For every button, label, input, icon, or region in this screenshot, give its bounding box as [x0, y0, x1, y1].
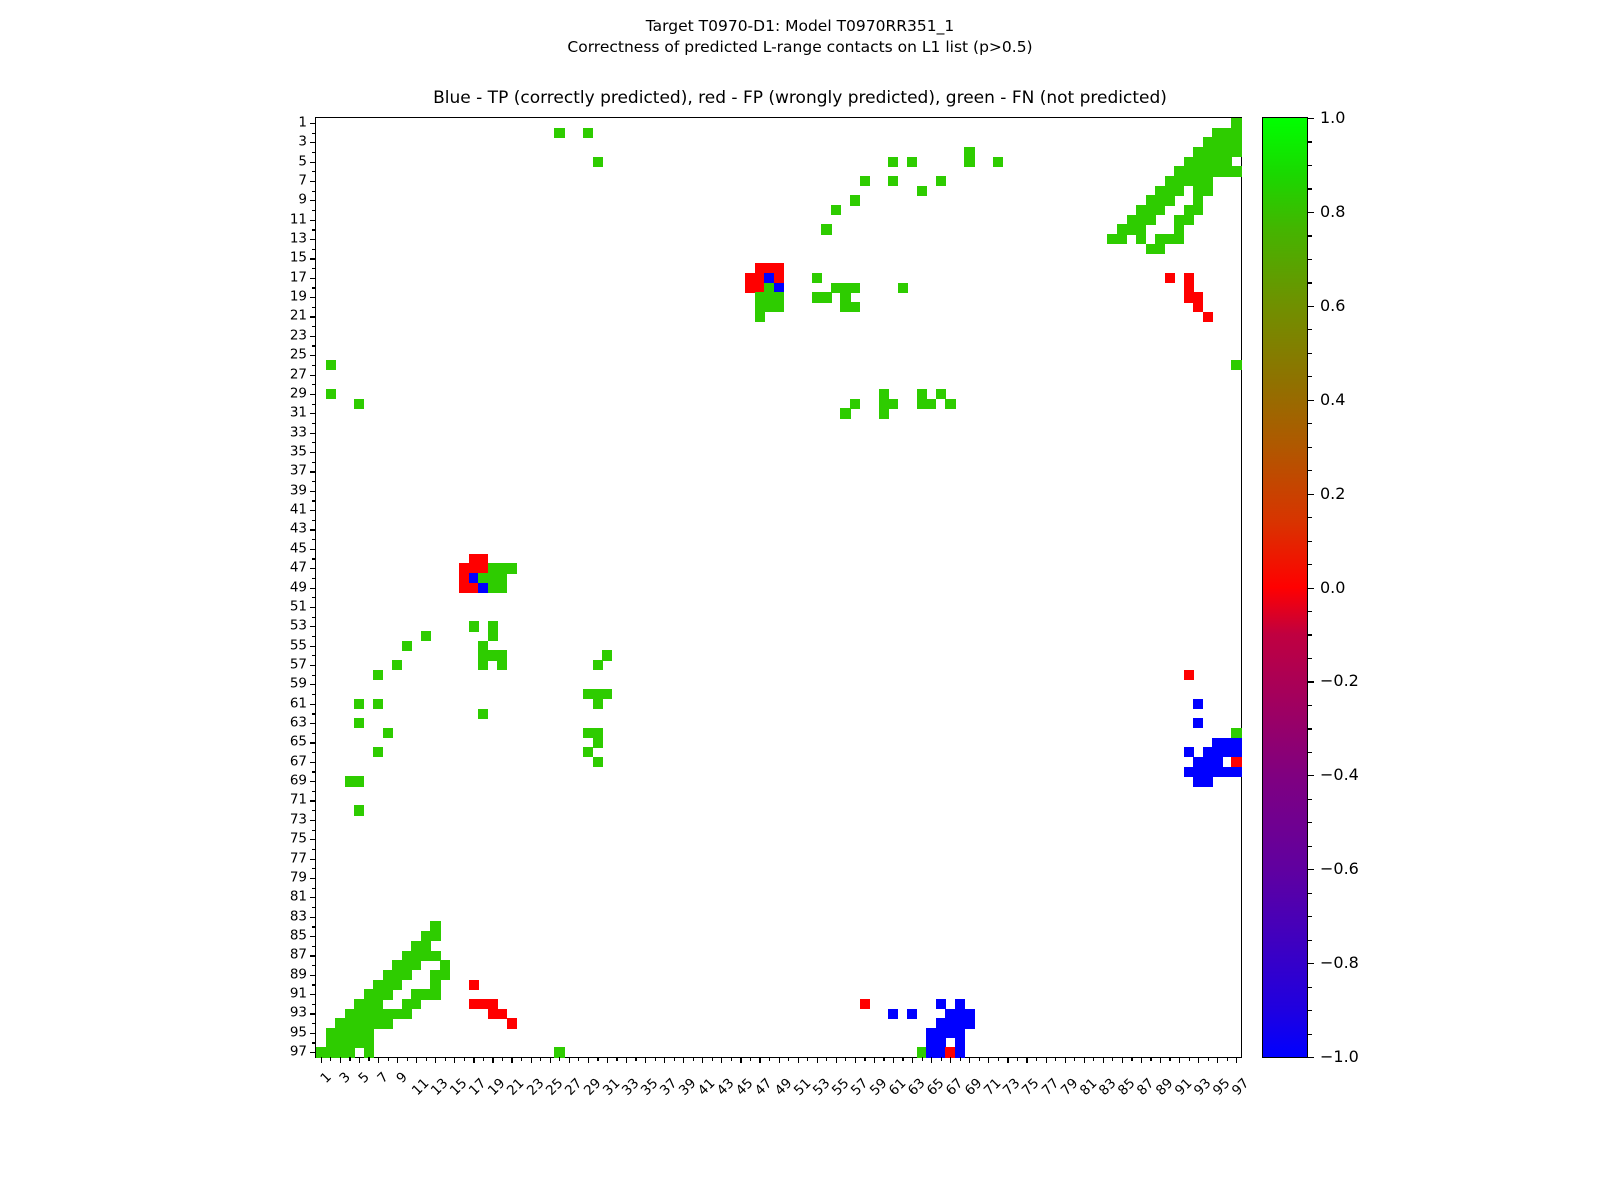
x-axis-tick [750, 1057, 751, 1061]
y-axis-tick [310, 239, 316, 240]
y-axis-tick [310, 781, 316, 782]
legend-text: Blue - TP (correctly predicted), red - F… [0, 88, 1600, 108]
x-axis-tick [559, 1057, 560, 1061]
colorbar-label: −0.4 [1320, 767, 1359, 783]
x-axis-tick [1103, 1057, 1104, 1063]
y-axis-label: 65 [290, 736, 307, 750]
colorbar-tick [1307, 235, 1312, 236]
heatmap-cell [354, 718, 364, 728]
heatmap-cell [602, 650, 612, 660]
y-axis-tick [312, 597, 316, 598]
x-axis-tick [1017, 1057, 1018, 1061]
y-axis-label: 33 [290, 426, 307, 440]
y-axis-label: 1 [298, 116, 307, 130]
heatmap-cell [907, 1009, 917, 1019]
heatmap-cell [850, 283, 860, 293]
colorbar-label: 0.6 [1320, 298, 1345, 314]
y-axis-tick [310, 704, 316, 705]
colorbar-tick [1307, 329, 1312, 330]
x-axis-tick [769, 1057, 770, 1061]
y-axis-tick [312, 733, 316, 734]
title-line-1: Target T0970-D1: Model T0970RR351_1 [0, 16, 1600, 37]
x-axis-tick [578, 1057, 579, 1061]
heatmap-cell [1193, 699, 1203, 709]
y-axis-tick [312, 713, 316, 714]
y-axis-tick [310, 220, 316, 221]
y-axis-label: 11 [290, 213, 307, 227]
y-axis-label: 15 [290, 252, 307, 266]
x-axis-tick [836, 1057, 837, 1063]
y-axis-tick [312, 191, 316, 192]
heatmap-cell [326, 389, 336, 399]
colorbar-tick [1307, 306, 1314, 307]
x-axis-tick [693, 1057, 694, 1061]
x-axis-tick [1150, 1057, 1151, 1061]
y-axis-tick [312, 384, 316, 385]
colorbar-tick [1307, 634, 1312, 635]
y-axis-tick [312, 578, 316, 579]
y-axis-tick [310, 162, 316, 163]
x-axis-tick [798, 1057, 799, 1063]
y-axis-label: 9 [298, 194, 307, 208]
x-axis-tick [426, 1057, 427, 1061]
heatmap-cell [554, 128, 564, 138]
y-axis-tick [310, 646, 316, 647]
figure-title: Target T0970-D1: Model T0970RR351_1 Corr… [0, 16, 1600, 58]
y-axis-tick [310, 975, 316, 976]
heatmap-cell [1231, 147, 1241, 157]
heatmap-cell [888, 1009, 898, 1019]
heatmap-cell [478, 709, 488, 719]
x-axis-tick [483, 1057, 484, 1061]
x-axis-tick [674, 1057, 675, 1061]
x-axis-tick [588, 1057, 589, 1063]
y-axis-tick [310, 839, 316, 840]
y-axis-tick [312, 462, 316, 463]
y-axis-tick [310, 471, 316, 472]
x-axis-tick [1065, 1057, 1066, 1063]
x-axis-tick [1055, 1057, 1056, 1061]
heatmap-cell [373, 670, 383, 680]
x-axis-tick [540, 1057, 541, 1061]
x-axis-tick [874, 1057, 875, 1063]
y-axis-tick [312, 1042, 316, 1043]
heatmap-cell [593, 757, 603, 767]
heatmap-cell [1193, 176, 1203, 186]
y-axis-label: 93 [290, 1007, 307, 1021]
heatmap-cell [411, 999, 421, 1009]
colorbar-label: 0.0 [1320, 580, 1345, 596]
heatmap-cell [1184, 747, 1194, 757]
heatmap-cell [469, 621, 479, 631]
heatmap-cell [354, 776, 364, 786]
heatmap-cell [917, 186, 927, 196]
heatmap-cell [345, 776, 355, 786]
colorbar-tick [1307, 470, 1312, 471]
y-axis-tick [310, 1052, 316, 1053]
y-axis-tick [310, 375, 316, 376]
heatmap-cell [898, 283, 908, 293]
x-axis-tick [855, 1057, 856, 1063]
heatmap-cell [383, 989, 393, 999]
contact-map-plot-area: 1133557799111113131515171719192121232325… [315, 117, 1242, 1058]
x-axis-tick [807, 1057, 808, 1061]
y-axis-label: 21 [290, 310, 307, 324]
heatmap-cell [755, 312, 765, 322]
heatmap-cell [1174, 234, 1184, 244]
y-axis-tick [310, 433, 316, 434]
heatmap-cell [1203, 776, 1213, 786]
heatmap-cell [936, 176, 946, 186]
x-axis-tick [531, 1057, 532, 1063]
colorbar-tick [1307, 400, 1314, 401]
y-axis-label: 77 [290, 852, 307, 866]
x-axis-tick [1074, 1057, 1075, 1061]
colorbar-tick [1307, 775, 1314, 776]
x-axis-tick [1141, 1057, 1142, 1063]
heatmap-cell [507, 563, 517, 573]
heatmap-cell [583, 128, 593, 138]
x-axis-tick [368, 1057, 369, 1061]
x-axis-tick [597, 1057, 598, 1061]
heatmap-cell [602, 689, 612, 699]
y-axis-label: 95 [290, 1026, 307, 1040]
y-axis-label: 13 [290, 232, 307, 246]
y-axis-tick [310, 355, 316, 356]
y-axis-tick [312, 307, 316, 308]
y-axis-label: 23 [290, 329, 307, 343]
heatmap-cell [440, 970, 450, 980]
y-axis-label: 91 [290, 987, 307, 1001]
heatmap-cell [373, 1009, 383, 1019]
y-axis-tick [310, 742, 316, 743]
y-axis-tick [312, 984, 316, 985]
y-axis-tick [312, 210, 316, 211]
x-axis-tick [912, 1057, 913, 1063]
y-axis-tick [310, 626, 316, 627]
y-axis-tick [310, 684, 316, 685]
x-axis-tick [845, 1057, 846, 1061]
y-axis-tick [312, 404, 316, 405]
y-axis-label: 35 [290, 445, 307, 459]
heatmap-cell [860, 999, 870, 1009]
y-axis-tick [312, 481, 316, 482]
y-axis-tick [310, 491, 316, 492]
y-axis-tick [310, 762, 316, 763]
y-axis-tick [310, 297, 316, 298]
y-axis-tick [312, 326, 316, 327]
colorbar-tick [1307, 987, 1312, 988]
x-axis-tick [492, 1057, 493, 1063]
x-axis-tick [521, 1057, 522, 1061]
colorbar-label: −0.6 [1320, 861, 1359, 877]
colorbar-tick [1307, 353, 1312, 354]
heatmap-cell [945, 399, 955, 409]
y-axis-tick [312, 791, 316, 792]
heatmap-cell [926, 399, 936, 409]
colorbar-tick [1307, 869, 1314, 870]
colorbar-tick [1307, 423, 1312, 424]
y-axis-label: 67 [290, 755, 307, 769]
y-axis-tick [312, 558, 316, 559]
colorbar-tick [1307, 822, 1312, 823]
x-axis-tick [569, 1057, 570, 1063]
x-axis-tick [330, 1057, 331, 1061]
heatmap-cell [1203, 186, 1213, 196]
y-axis-tick [312, 539, 316, 540]
x-axis-tick [388, 1057, 389, 1061]
heatmap-cell [497, 660, 507, 670]
colorbar-tick [1307, 846, 1312, 847]
x-axis-tick [1046, 1057, 1047, 1063]
y-axis-tick [310, 142, 316, 143]
colorbar-tick [1307, 118, 1314, 119]
heatmap-cell [593, 660, 603, 670]
y-axis-label: 37 [290, 465, 307, 479]
heatmap-cell [1117, 234, 1127, 244]
heatmap-cell [469, 980, 479, 990]
heatmap-cell [888, 157, 898, 167]
heatmap-cell [821, 292, 831, 302]
x-axis-tick [883, 1057, 884, 1061]
x-axis-tick [759, 1057, 760, 1063]
colorbar-tick [1307, 212, 1314, 213]
y-axis-tick [312, 655, 316, 656]
heatmap-cell [326, 360, 336, 370]
y-axis-tick [310, 549, 316, 550]
y-axis-tick [310, 413, 316, 414]
x-axis-tick [550, 1057, 551, 1063]
heatmap-cell [1184, 292, 1194, 302]
y-axis-label: 69 [290, 774, 307, 788]
heatmap-cell [1155, 205, 1165, 215]
y-axis-tick [312, 1004, 316, 1005]
heatmap-cell [1184, 670, 1194, 680]
heatmap-cell [850, 302, 860, 312]
colorbar-tick [1307, 963, 1314, 964]
y-axis-tick [310, 917, 316, 918]
y-axis-label: 5 [298, 155, 307, 169]
y-axis-tick [312, 1023, 316, 1024]
colorbar-tick [1307, 799, 1312, 800]
heatmap-cell [411, 960, 421, 970]
heatmap-cell [478, 660, 488, 670]
heatmap-cell [964, 157, 974, 167]
y-axis-tick [310, 394, 316, 395]
heatmap-cell [840, 408, 850, 418]
heatmap-cell [1231, 767, 1241, 777]
x-axis-tick [407, 1057, 408, 1061]
y-axis-tick [310, 897, 316, 898]
heatmap-cell [383, 728, 393, 738]
y-axis-tick [312, 171, 316, 172]
x-axis-tick [960, 1057, 961, 1061]
y-axis-tick [310, 955, 316, 956]
y-axis-tick [310, 1033, 316, 1034]
x-axis-tick [607, 1057, 608, 1063]
x-axis-tick [1007, 1057, 1008, 1063]
heatmap-cell [497, 583, 507, 593]
x-axis-tick [616, 1057, 617, 1061]
y-axis-label: 81 [290, 891, 307, 905]
x-axis-tick [817, 1057, 818, 1063]
title-line-2: Correctness of predicted L-range contact… [0, 37, 1600, 58]
x-axis-tick [1198, 1057, 1199, 1063]
colorbar-tick [1307, 165, 1312, 166]
heatmap-cell [860, 176, 870, 186]
x-axis-tick [349, 1057, 350, 1061]
y-axis-tick [312, 907, 316, 908]
x-axis-tick [454, 1057, 455, 1063]
y-axis-tick [310, 181, 316, 182]
x-axis-tick [626, 1057, 627, 1063]
heatmap-cell [354, 699, 364, 709]
y-axis-tick [310, 723, 316, 724]
y-axis-label: 75 [290, 832, 307, 846]
colorbar-tick [1307, 282, 1312, 283]
heatmap-cell [1231, 360, 1241, 370]
heatmap-cell [507, 1018, 517, 1028]
heatmap-cell [850, 195, 860, 205]
x-axis-tick [1036, 1057, 1037, 1061]
colorbar-tick [1307, 1057, 1314, 1058]
y-axis-tick [312, 442, 316, 443]
x-axis-tick [712, 1057, 713, 1061]
y-axis-tick [310, 123, 316, 124]
heatmap-cell [1193, 718, 1203, 728]
colorbar-label: −1.0 [1320, 1049, 1359, 1065]
y-axis-label: 43 [290, 523, 307, 537]
y-axis-label: 25 [290, 348, 307, 362]
x-axis-tick [731, 1057, 732, 1061]
y-axis-label: 47 [290, 561, 307, 575]
x-axis-tick [998, 1057, 999, 1061]
y-axis-tick [310, 994, 316, 995]
x-axis-tick [1236, 1057, 1237, 1063]
y-axis-tick [312, 830, 316, 831]
y-axis-label: 89 [290, 968, 307, 982]
y-axis-label: 57 [290, 658, 307, 672]
colorbar-tick [1307, 141, 1312, 142]
heatmap-cell [1184, 215, 1194, 225]
colorbar-label: 0.2 [1320, 486, 1345, 502]
y-axis-label: 71 [290, 794, 307, 808]
y-axis-tick [310, 588, 316, 589]
x-axis-tick [464, 1057, 465, 1061]
heatmap-cell [907, 157, 917, 167]
y-axis-label: 73 [290, 813, 307, 827]
x-axis-tick [941, 1057, 942, 1061]
x-axis-tick [788, 1057, 789, 1061]
y-axis-label: 31 [290, 407, 307, 421]
y-axis-tick [312, 771, 316, 772]
y-axis-label: 85 [290, 929, 307, 943]
y-axis-label: 17 [290, 271, 307, 285]
x-axis-tick [1093, 1057, 1094, 1061]
colorbar-label: −0.2 [1320, 673, 1359, 689]
y-axis-tick [310, 878, 316, 879]
colorbar-tick [1307, 658, 1312, 659]
heatmap-cell [593, 728, 603, 738]
y-axis-tick [312, 520, 316, 521]
x-axis-tick [1112, 1057, 1113, 1061]
x-axis-tick [702, 1057, 703, 1063]
colorbar-tick [1307, 564, 1312, 565]
heatmap-cell [402, 1009, 412, 1019]
y-axis-tick [310, 529, 316, 530]
contact-map-figure: Target T0970-D1: Model T0970RR351_1 Corr… [0, 0, 1600, 1200]
y-axis-tick [312, 617, 316, 618]
colorbar-label: −0.8 [1320, 955, 1359, 971]
colorbar-tick [1307, 588, 1314, 589]
y-axis-label: 53 [290, 619, 307, 633]
colorbar-label: 0.8 [1320, 204, 1345, 220]
y-axis-label: 41 [290, 503, 307, 517]
x-axis-tick [1179, 1057, 1180, 1063]
heatmap-cell [1165, 195, 1175, 205]
heatmap-cell [354, 399, 364, 409]
x-axis-tick [1189, 1057, 1190, 1061]
heatmap-cells [316, 118, 1241, 1057]
y-axis-tick [310, 936, 316, 937]
heatmap-cell [888, 176, 898, 186]
heatmap-cell [488, 999, 498, 1009]
colorbar-tick [1307, 916, 1312, 917]
heatmap-cell [964, 1018, 974, 1028]
y-axis-label: 61 [290, 697, 307, 711]
x-axis-tick [664, 1057, 665, 1063]
colorbar-tick [1307, 728, 1312, 729]
heatmap-cell [421, 631, 431, 641]
x-axis-tick [683, 1057, 684, 1063]
y-axis-label: 59 [290, 678, 307, 692]
heatmap-cell [1146, 215, 1156, 225]
y-axis-label: 3 [298, 135, 307, 149]
y-axis-label: 83 [290, 910, 307, 924]
y-axis-tick [312, 849, 316, 850]
x-axis-tick [435, 1057, 436, 1063]
x-axis-tick [359, 1057, 360, 1063]
heatmap-cell [354, 805, 364, 815]
y-axis-tick [312, 268, 316, 269]
x-axis-tick [473, 1057, 474, 1063]
x-axis-tick [340, 1057, 341, 1063]
heatmap-cell [593, 738, 603, 748]
y-axis-tick [310, 336, 316, 337]
heatmap-cell [888, 399, 898, 409]
colorbar: 1.00.80.60.40.20.0−0.2−0.4−0.6−0.8−1.0 [1262, 117, 1308, 1058]
y-axis-label: 97 [290, 1045, 307, 1059]
heatmap-cell [392, 980, 402, 990]
heatmap-cell [1174, 186, 1184, 196]
heatmap-cell [850, 399, 860, 409]
heatmap-cell [392, 660, 402, 670]
colorbar-tick [1307, 376, 1312, 377]
x-axis-tick [1122, 1057, 1123, 1063]
heatmap-cell [430, 931, 440, 941]
colorbar-tick [1307, 188, 1312, 189]
colorbar-tick [1307, 541, 1312, 542]
heatmap-cell [964, 147, 974, 157]
heatmap-cell [430, 989, 440, 999]
y-axis-tick [312, 636, 316, 637]
x-axis-tick [1208, 1057, 1209, 1061]
x-axis-tick [740, 1057, 741, 1063]
y-axis-label: 55 [290, 639, 307, 653]
heatmap-cell [402, 641, 412, 651]
colorbar-tick [1307, 1010, 1312, 1011]
colorbar-label: 0.4 [1320, 392, 1345, 408]
